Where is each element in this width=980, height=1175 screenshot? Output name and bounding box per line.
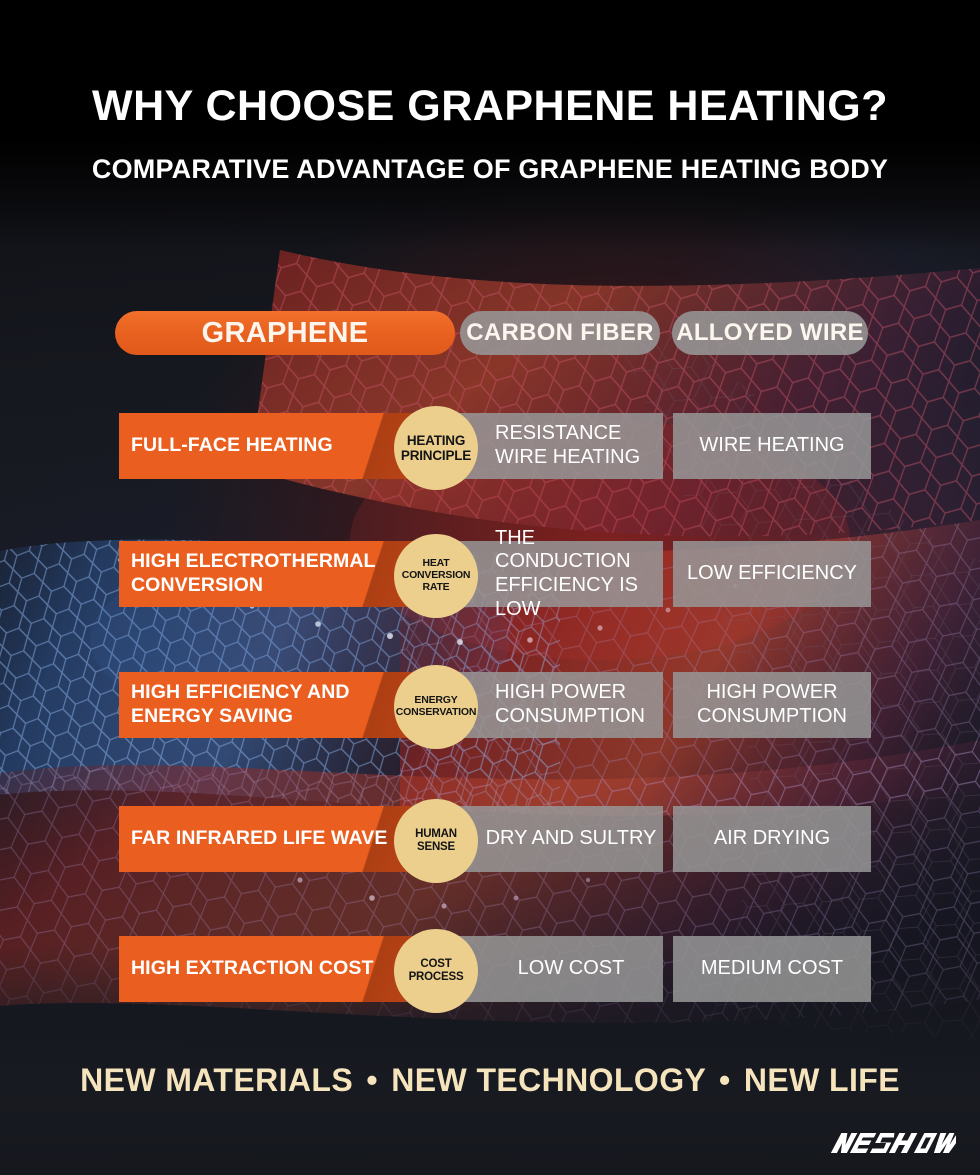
meshow-logo-icon <box>826 1126 956 1160</box>
criteria-badge-label: COST PROCESS <box>394 958 478 984</box>
table-row: FAR INFRARED LIFE WAVE HUMAN SENSE DRY A… <box>0 806 980 872</box>
carbon-fiber-cell-label: LOW COST <box>488 957 631 981</box>
footer-tagline-part3: NEW LIFE <box>744 1062 900 1098</box>
criteria-badge: HEATING PRINCIPLE <box>394 406 478 490</box>
graphene-cell-label: HIGH EXTRACTION COST <box>119 957 434 981</box>
footer-tagline-part1: NEW MATERIALS <box>80 1062 353 1098</box>
footer-bullet-separator: • <box>715 1062 735 1098</box>
footer-tagline-part2: NEW TECHNOLOGY <box>391 1062 705 1098</box>
footer-tagline: NEW MATERIALS • NEW TECHNOLOGY • NEW LIF… <box>0 1062 980 1099</box>
infographic-page: WHY CHOOSE GRAPHENE HEATING? COMPARATIVE… <box>0 0 980 1175</box>
carbon-fiber-cell-label: RESISTANCE WIRE HEATING <box>455 422 663 469</box>
column-header-carbon-fiber: CARBON FIBER <box>460 311 660 355</box>
alloyed-wire-cell: LOW EFFICIENCY <box>673 541 871 607</box>
carbon-fiber-cell: LOW COST <box>455 936 663 1002</box>
criteria-badge-label: ENERGY CONSERVATION <box>394 695 478 719</box>
criteria-badge: COST PROCESS <box>394 929 478 1013</box>
alloyed-wire-cell: AIR DRYING <box>673 806 871 872</box>
alloyed-wire-cell-label: MEDIUM COST <box>693 957 851 981</box>
criteria-badge-label: HEATING PRINCIPLE <box>394 433 478 463</box>
table-row: FULL-FACE HEATING HEATING PRINCIPLE RESI… <box>0 413 980 479</box>
alloyed-wire-cell-label: LOW EFFICIENCY <box>679 562 865 586</box>
column-header-alloyed-wire-label: ALLOYED WIRE <box>672 311 868 355</box>
criteria-badge: HEAT CONVERSION RATE <box>394 534 478 618</box>
carbon-fiber-cell: RESISTANCE WIRE HEATING <box>455 413 663 479</box>
carbon-fiber-cell: DRY AND SULTRY <box>455 806 663 872</box>
table-row: HIGH EXTRACTION COST COST PROCESS LOW CO… <box>0 936 980 1002</box>
graphene-cell-label: FULL-FACE HEATING <box>119 434 393 458</box>
alloyed-wire-cell: WIRE HEATING <box>673 413 871 479</box>
carbon-fiber-cell-label: DRY AND SULTRY <box>456 827 663 851</box>
carbon-fiber-cell: HIGH POWER CONSUMPTION <box>455 672 663 738</box>
column-header-carbon-fiber-label: CARBON FIBER <box>460 311 660 355</box>
comparison-table: GRAPHENE CARBON FIBER ALLOYED WIRE FULL-… <box>0 0 980 1175</box>
meshow-logo <box>826 1126 956 1160</box>
carbon-fiber-cell-label: THE CONDUCTION EFFICIENCY IS LOW <box>455 527 663 621</box>
alloyed-wire-cell-label: WIRE HEATING <box>691 434 852 458</box>
column-header-alloyed-wire: ALLOYED WIRE <box>672 311 868 355</box>
carbon-fiber-cell: THE CONDUCTION EFFICIENCY IS LOW <box>455 541 663 607</box>
carbon-fiber-cell-label: HIGH POWER CONSUMPTION <box>455 681 663 728</box>
criteria-badge-label: HUMAN SENSE <box>394 828 478 854</box>
footer-bullet-separator: • <box>362 1062 382 1098</box>
criteria-badge: ENERGY CONSERVATION <box>394 665 478 749</box>
criteria-badge-label: HEAT CONVERSION RATE <box>394 558 478 593</box>
column-header-graphene-label: GRAPHENE <box>115 311 455 355</box>
alloyed-wire-cell-label: AIR DRYING <box>706 827 838 851</box>
criteria-badge: HUMAN SENSE <box>394 799 478 883</box>
alloyed-wire-cell-label: HIGH POWER CONSUMPTION <box>673 681 871 728</box>
column-header-graphene: GRAPHENE <box>115 311 455 355</box>
alloyed-wire-cell: HIGH POWER CONSUMPTION <box>673 672 871 738</box>
table-row: HIGH EFFICIENCY AND ENERGY SAVING ENERGY… <box>0 672 980 738</box>
alloyed-wire-cell: MEDIUM COST <box>673 936 871 1002</box>
table-row: HIGH ELECTROTHERMAL CONVERSION HEAT CONV… <box>0 541 980 607</box>
